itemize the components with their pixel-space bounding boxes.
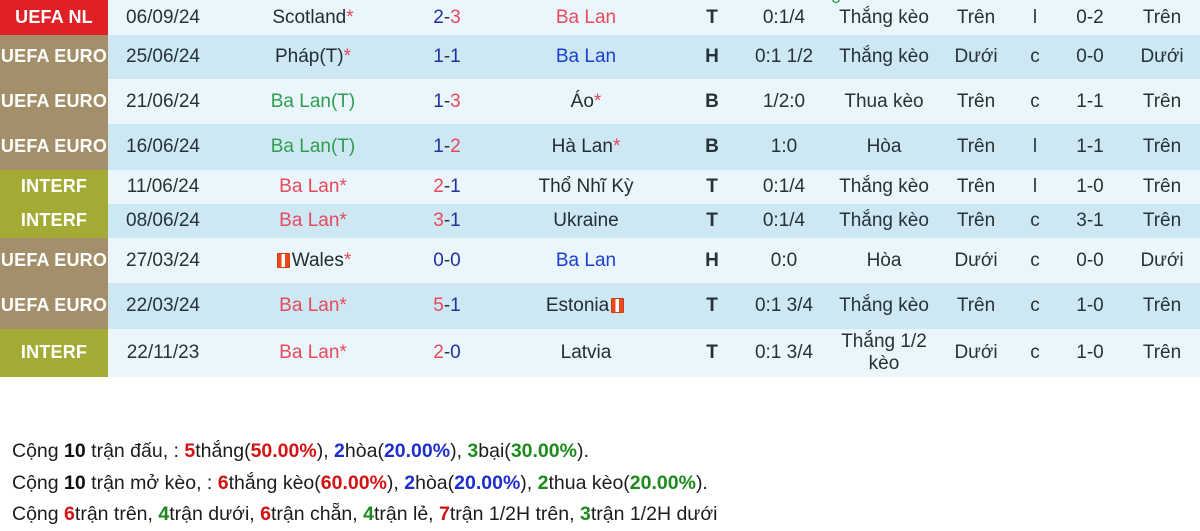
score-away: 1 <box>450 295 461 316</box>
summary-line-overunder: Cộng 6trận trên, 4trận dưới, 6trận chẵn,… <box>12 499 1188 531</box>
summary-value: 6 <box>260 503 271 525</box>
table-row[interactable]: UEFA EURO27/03/24Wales*0-0Ba LanH0:0HòaD… <box>0 238 1200 283</box>
away-team[interactable]: Thổ Nhĩ Kỳ <box>486 170 686 204</box>
score-home: 0 <box>433 250 444 271</box>
summary-text: hòa( <box>345 440 384 462</box>
league-badge[interactable]: INTERF <box>0 329 108 377</box>
half-time-score: 1-1 <box>1056 79 1124 124</box>
handicap-line: 0:1/4 <box>738 204 830 238</box>
over-under-result: Trên <box>938 0 1014 35</box>
home-star-marker: * <box>339 176 346 197</box>
match-date: 08/06/24 <box>108 204 218 238</box>
odd-even-result: c <box>1014 329 1056 377</box>
home-team-name: Pháp(T) <box>275 46 344 67</box>
match-date: 11/06/24 <box>108 170 218 204</box>
away-team-name: Ba Lan <box>556 250 616 271</box>
score-home: 2 <box>433 342 444 363</box>
home-star-marker: * <box>339 342 346 363</box>
odd-even-result: l <box>1014 170 1056 204</box>
league-badge[interactable]: UEFA EURO <box>0 283 108 329</box>
over-under-result: Dưới <box>938 35 1014 79</box>
summary-value: 10 <box>64 472 86 494</box>
handicap-result: Thắng kèo <box>830 35 938 79</box>
handicap-line: 0:1/4 <box>738 0 830 35</box>
odd-even-result: c <box>1014 204 1056 238</box>
over-under-result: Trên <box>938 283 1014 329</box>
summary-value: 4 <box>363 503 374 525</box>
over-under-result: Trên <box>938 79 1014 124</box>
summary-value: 10 <box>64 440 86 462</box>
half-time-over-under: Trên <box>1124 204 1200 238</box>
summary-value: 3 <box>580 503 591 525</box>
final-score: 2-3 <box>408 0 486 35</box>
away-team-name: Latvia <box>561 342 612 363</box>
home-team-name: Scotland <box>272 7 346 28</box>
away-team[interactable]: Ba Lan <box>486 0 686 35</box>
summary-text: trận chẵn, <box>271 503 363 525</box>
summary-value: 20.00% <box>454 472 520 494</box>
summary-text: trận mở kèo, : <box>86 472 218 494</box>
away-team[interactable]: Ba Lan <box>486 35 686 79</box>
half-time-over-under: Trên <box>1124 0 1200 35</box>
result-letter: H <box>686 35 738 79</box>
summary-line-matches: Cộng 10 trận đấu, : 5thắng(50.00%), 2hòa… <box>12 436 1188 468</box>
score-away: 3 <box>450 91 461 112</box>
home-team-name: Ba Lan <box>279 342 339 363</box>
final-score: 1-2 <box>408 124 486 170</box>
summary-text: trận lẻ, <box>374 503 439 525</box>
handicap-result: Thắng kèo <box>830 204 938 238</box>
score-home: 5 <box>433 295 444 316</box>
league-badge[interactable]: UEFA EURO <box>0 79 108 124</box>
handicap-result: Thắng 1/2 kèo <box>830 329 938 377</box>
away-team[interactable]: Estonia <box>486 283 686 329</box>
summary-value: 50.00% <box>251 440 317 462</box>
final-score: 5-1 <box>408 283 486 329</box>
summary-text: thua kèo( <box>548 472 629 494</box>
half-time-score: 1-1 <box>1056 124 1124 170</box>
home-team-name: Ba Lan <box>279 176 339 197</box>
summary-text: Cộng <box>12 440 64 462</box>
odd-even-result: c <box>1014 79 1056 124</box>
away-star-marker: * <box>613 136 620 157</box>
league-badge[interactable]: UEFA EURO <box>0 124 108 170</box>
score-home: 2 <box>433 176 444 197</box>
odd-even-result: c <box>1014 35 1056 79</box>
handicap-line: 0:1 3/4 <box>738 329 830 377</box>
half-time-over-under: Trên <box>1124 329 1200 377</box>
summary-value: 30.00% <box>511 440 577 462</box>
score-away: 0 <box>450 250 461 271</box>
summary-text: ), <box>520 472 537 494</box>
half-time-score: 3-1 <box>1056 204 1124 238</box>
home-team[interactable]: Ba Lan* <box>218 283 408 329</box>
match-date: 22/03/24 <box>108 283 218 329</box>
home-team-name: Ba Lan <box>279 295 339 316</box>
summary-value: 6 <box>64 503 75 525</box>
summary-text: thắng kèo( <box>229 472 321 494</box>
match-date: 27/03/24 <box>108 238 218 283</box>
away-team[interactable]: Ukraine <box>486 204 686 238</box>
result-letter: B <box>686 124 738 170</box>
summary-text: ), <box>450 440 467 462</box>
home-star-marker: * <box>339 295 346 316</box>
handicap-result: Thắng kèo <box>830 170 938 204</box>
away-team[interactable]: Hà Lan* <box>486 124 686 170</box>
over-under-result: Dưới <box>938 238 1014 283</box>
summary-text: hòa( <box>415 472 454 494</box>
summary-text: Cộng <box>12 503 64 525</box>
result-letter: T <box>686 0 738 35</box>
result-letter: B <box>686 79 738 124</box>
home-team[interactable]: Scotland* <box>218 0 408 35</box>
final-score: 0-0 <box>408 238 486 283</box>
match-history-table: UEFA NL06/09/24Scotland*2-3Ba LanT0:1/4T… <box>0 0 1200 377</box>
away-team-name: Ukraine <box>553 210 618 231</box>
league-badge[interactable]: INTERF <box>0 170 108 204</box>
summary-text: trận 1/2H trên, <box>450 503 580 525</box>
home-team[interactable]: Ba Lan* <box>218 170 408 204</box>
half-time-over-under: Trên <box>1124 79 1200 124</box>
table-row[interactable]: UEFA EURO16/06/24Ba Lan(T)1-2Hà Lan*B1:0… <box>0 124 1200 170</box>
handicap-result: Thắng kèo <box>830 283 938 329</box>
score-away: 2 <box>450 136 461 157</box>
summary-value: 2 <box>334 440 345 462</box>
half-time-score: 1-0 <box>1056 170 1124 204</box>
league-badge[interactable]: UEFA EURO <box>0 35 108 79</box>
summary-value: 60.00% <box>321 472 387 494</box>
over-under-result: Trên <box>938 204 1014 238</box>
home-team[interactable]: Ba Lan* <box>218 329 408 377</box>
table-row[interactable]: UEFA EURO22/03/24Ba Lan*5-1EstoniaT0:1 3… <box>0 283 1200 329</box>
summary-value: 20.00% <box>384 440 450 462</box>
away-team-name: Thổ Nhĩ Kỳ <box>538 176 633 197</box>
handicap-line: 0:0 <box>738 238 830 283</box>
final-score: 2-0 <box>408 329 486 377</box>
home-team[interactable]: Ba Lan(T) <box>218 79 408 124</box>
final-score: 1-1 <box>408 35 486 79</box>
match-date: 16/06/24 <box>108 124 218 170</box>
summary-value: 20.00% <box>630 472 696 494</box>
away-team-name: Estonia <box>546 295 609 316</box>
half-time-score: 0-2 <box>1056 0 1124 35</box>
summary-text: trận trên, <box>75 503 158 525</box>
result-letter: T <box>686 204 738 238</box>
half-time-over-under: Trên <box>1124 283 1200 329</box>
table-row[interactable]: INTERF11/06/24Ba Lan*2-1Thổ Nhĩ KỳT0:1/4… <box>0 170 1200 204</box>
half-time-over-under: Dưới <box>1124 35 1200 79</box>
summary-value: 4 <box>158 503 169 525</box>
flag-icon <box>277 253 290 268</box>
handicap-result: Thua kèo <box>830 79 938 124</box>
final-score: 2-1 <box>408 170 486 204</box>
flag-icon <box>611 298 624 313</box>
home-team-name: Ba Lan(T) <box>271 136 355 157</box>
home-team-name: Ba Lan(T) <box>271 91 355 112</box>
half-time-score: 1-0 <box>1056 329 1124 377</box>
summary-text: ). <box>577 440 589 462</box>
match-date: 25/06/24 <box>108 35 218 79</box>
handicap-line: 1/2:0 <box>738 79 830 124</box>
handicap-line: 0:1/4 <box>738 170 830 204</box>
final-score: 3-1 <box>408 204 486 238</box>
score-away: 3 <box>450 7 461 28</box>
summary-value: 2 <box>538 472 549 494</box>
table-row[interactable]: INTERF08/06/24Ba Lan*3-1UkraineT0:1/4Thắ… <box>0 204 1200 238</box>
summary-text: trận 1/2H dưới <box>591 503 718 525</box>
result-letter: T <box>686 329 738 377</box>
handicap-result: Hòa <box>830 238 938 283</box>
home-team[interactable]: Wales* <box>218 238 408 283</box>
score-home: 1 <box>433 46 444 67</box>
home-team-name: Ba Lan <box>279 210 339 231</box>
handicap-result: Hòa <box>830 124 938 170</box>
odd-even-result: l <box>1014 124 1056 170</box>
summary-value: 5 <box>184 440 195 462</box>
home-team-name: Wales <box>292 250 344 271</box>
table-row[interactable]: UEFA EURO25/06/24Pháp(T)*1-1Ba LanH0:1 1… <box>0 35 1200 79</box>
summary-text: ), <box>317 440 334 462</box>
summary-line-handicap: Cộng 10 trận mở kèo, : 6thắng kèo(60.00%… <box>12 468 1188 500</box>
away-team[interactable]: Ba Lan <box>486 238 686 283</box>
summary-text: trận dưới, <box>169 503 260 525</box>
half-time-over-under: Trên <box>1124 124 1200 170</box>
half-time-over-under: Dưới <box>1124 238 1200 283</box>
summary-text: ). <box>696 472 708 494</box>
over-under-result: Trên <box>938 124 1014 170</box>
summary-text: trận đấu, : <box>86 440 185 462</box>
summary-text: bại( <box>478 440 511 462</box>
table-row[interactable]: UEFA NL06/09/24Scotland*2-3Ba LanT0:1/4T… <box>0 0 1200 35</box>
score-home: 1 <box>433 91 444 112</box>
summary-value: 2 <box>404 472 415 494</box>
odd-even-result: c <box>1014 238 1056 283</box>
away-team-name: Ba Lan <box>556 7 616 28</box>
handicap-line: 0:1 3/4 <box>738 283 830 329</box>
summary-value: 7 <box>439 503 450 525</box>
away-team-name: Áo <box>571 91 594 112</box>
away-team-name: Hà Lan <box>552 136 613 157</box>
odd-even-result: l <box>1014 0 1056 35</box>
half-time-over-under: Trên <box>1124 170 1200 204</box>
half-time-score: 1-0 <box>1056 283 1124 329</box>
away-team[interactable]: Latvia <box>486 329 686 377</box>
over-under-result: Trên <box>938 170 1014 204</box>
over-under-result: Dưới <box>938 329 1014 377</box>
handicap-line: 0:1 1/2 <box>738 35 830 79</box>
score-away: 1 <box>450 176 461 197</box>
table-row[interactable]: INTERF22/11/23Ba Lan*2-0LatviaT0:1 3/4Th… <box>0 329 1200 377</box>
odd-even-result: c <box>1014 283 1056 329</box>
home-team[interactable]: Ba Lan(T) <box>218 124 408 170</box>
league-badge[interactable]: UEFA NL <box>0 0 108 35</box>
home-star-marker: * <box>346 7 353 28</box>
away-star-marker: * <box>594 91 601 112</box>
score-away: 1 <box>450 46 461 67</box>
table-row[interactable]: UEFA EURO21/06/24Ba Lan(T)1-3Áo*B1/2:0Th… <box>0 79 1200 124</box>
summary-text: thắng( <box>195 440 250 462</box>
league-badge[interactable]: INTERF <box>0 204 108 238</box>
score-away: 1 <box>450 210 461 231</box>
summary-panel: Cộng 10 trận đấu, : 5thắng(50.00%), 2hòa… <box>0 430 1200 531</box>
handicap-line: 1:0 <box>738 124 830 170</box>
league-badge[interactable]: UEFA EURO <box>0 238 108 283</box>
home-star-marker: * <box>344 250 351 271</box>
handicap-result: Thắng kèo <box>830 0 938 35</box>
match-date: 06/09/24 <box>108 0 218 35</box>
score-home: 3 <box>433 210 444 231</box>
result-letter: T <box>686 170 738 204</box>
away-team[interactable]: Áo* <box>486 79 686 124</box>
result-letter: H <box>686 238 738 283</box>
final-score: 1-3 <box>408 79 486 124</box>
match-date: 22/11/23 <box>108 329 218 377</box>
home-team[interactable]: Pháp(T)* <box>218 35 408 79</box>
score-away: 0 <box>450 342 461 363</box>
score-home: 1 <box>433 136 444 157</box>
score-home: 2 <box>433 7 444 28</box>
summary-text: ), <box>387 472 404 494</box>
half-time-score: 0-0 <box>1056 35 1124 79</box>
half-time-score: 0-0 <box>1056 238 1124 283</box>
home-team[interactable]: Ba Lan* <box>218 204 408 238</box>
result-letter: T <box>686 283 738 329</box>
summary-value: 3 <box>467 440 478 462</box>
summary-value: 6 <box>218 472 229 494</box>
summary-text: Cộng <box>12 472 64 494</box>
away-team-name: Ba Lan <box>556 46 616 67</box>
home-star-marker: * <box>339 210 346 231</box>
match-date: 21/06/24 <box>108 79 218 124</box>
home-star-marker: * <box>344 46 351 67</box>
